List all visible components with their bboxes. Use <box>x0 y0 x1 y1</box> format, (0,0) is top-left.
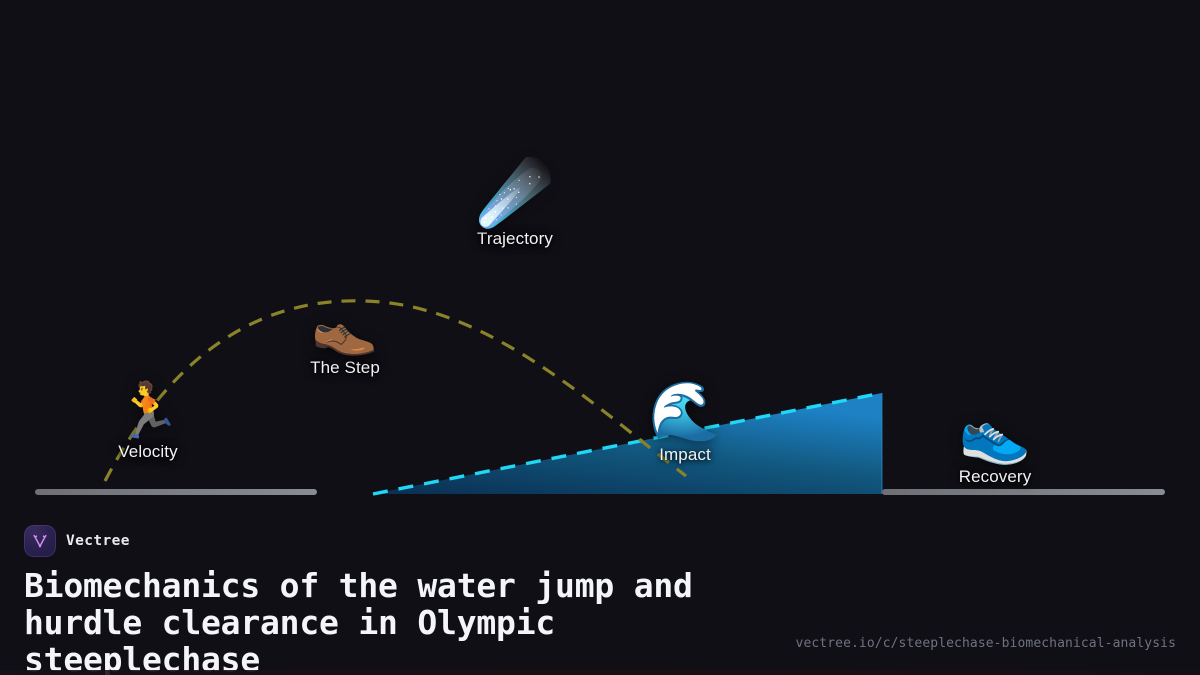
track-ground-left <box>35 489 317 495</box>
runner-icon: 🏃 <box>114 384 181 438</box>
diagram-node-impact: 🌊 Impact <box>600 383 770 465</box>
diagram-node-label: Impact <box>659 445 711 465</box>
running-shoe-icon: 👟 <box>959 405 1031 463</box>
brand-row: Vectree <box>24 524 1176 558</box>
vectree-mark-icon <box>30 531 50 551</box>
diagram-node-label: Trajectory <box>477 229 553 249</box>
diagram-node-label: Velocity <box>118 442 177 462</box>
bottom-accent-bar <box>0 670 1200 675</box>
page-title: Biomechanics of the water jump and hurdl… <box>24 568 784 675</box>
source-url: vectree.io/c/steeplechase-biomechanical-… <box>796 636 1176 651</box>
vectree-logo-icon <box>24 525 56 557</box>
diagram-node-recovery: 👟 Recovery <box>910 405 1080 487</box>
water-wave-icon: 🌊 <box>649 383 721 441</box>
diagram-node-the-step: 👞 The Step <box>260 300 430 378</box>
diagram-node-velocity: 🏃 Velocity <box>63 384 233 462</box>
diagram-node-label: The Step <box>310 358 380 378</box>
footer: Vectree Biomechanics of the water jump a… <box>0 512 1200 675</box>
diagram-node-trajectory: ☄️ Trajectory <box>430 163 600 249</box>
comet-icon: ☄️ <box>476 163 553 225</box>
dress-shoe-icon: 👞 <box>311 300 378 354</box>
brand-name: Vectree <box>66 533 130 549</box>
track-ground-right <box>882 489 1165 495</box>
promo-card: 🏃 Velocity 👞 The Step ☄️ Trajectory 🌊 Im… <box>0 0 1200 675</box>
diagram-node-label: Recovery <box>959 467 1032 487</box>
